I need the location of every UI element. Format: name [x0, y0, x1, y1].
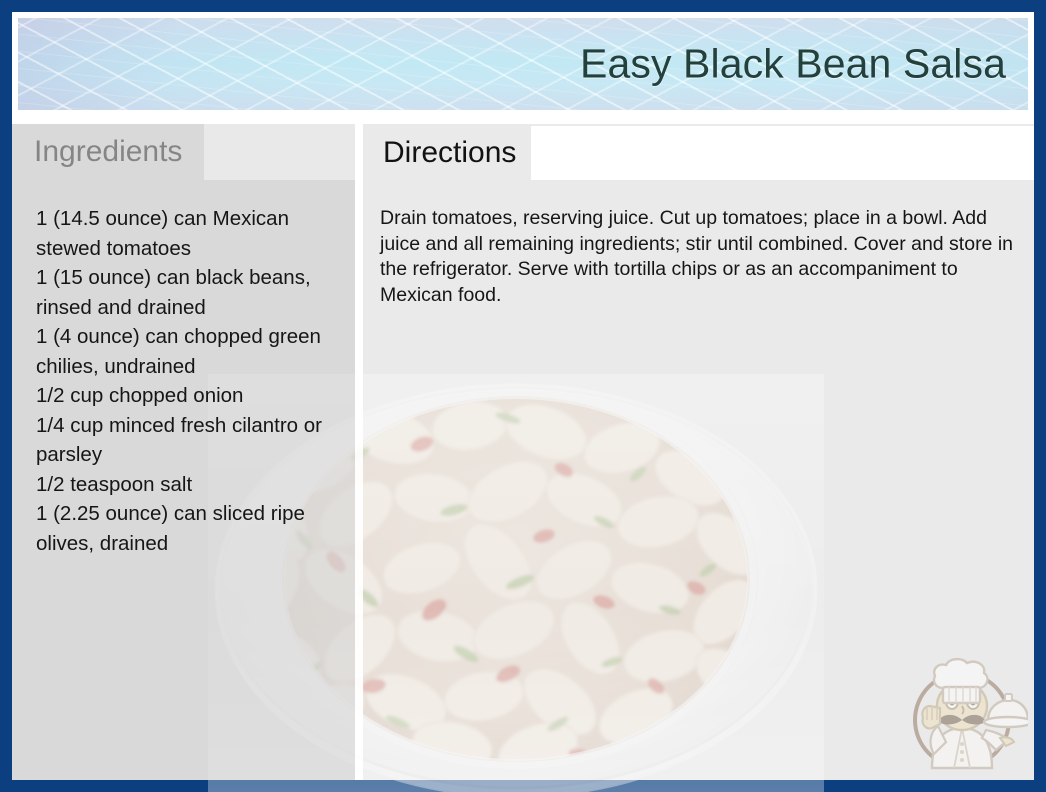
directions-heading-tab: Directions [372, 126, 531, 180]
page-title: Easy Black Bean Salsa [580, 44, 1006, 85]
directions-body-text: Drain tomatoes, reserving juice. Cut up … [380, 206, 1014, 308]
directions-tab-notch [531, 126, 1034, 180]
header-banner: Easy Black Bean Salsa [18, 18, 1028, 110]
recipe-slide: Easy Black Bean Salsa [0, 0, 1046, 792]
ingredient-item: 1/2 cup chopped onion [36, 381, 348, 411]
ingredient-item: 1/4 cup minced fresh cilantro or parsley [36, 411, 348, 470]
ingredient-item: 1/2 teaspoon salt [36, 470, 348, 500]
ingredients-heading-label: Ingredients [34, 135, 182, 169]
ingredient-item: 1 (2.25 ounce) can sliced ripe olives, d… [36, 499, 348, 558]
ingredient-item: 1 (4 ounce) can chopped green chilies, u… [36, 322, 348, 381]
ingredients-list: 1 (14.5 ounce) can Mexican stewed tomato… [36, 204, 348, 558]
ingredients-tab-notch [204, 124, 355, 180]
ingredients-heading-tab: Ingredients [12, 124, 204, 180]
slide-inner-canvas: Easy Black Bean Salsa [12, 12, 1034, 780]
panel-divider [355, 124, 363, 780]
directions-heading-label: Directions [383, 136, 516, 170]
chef-mascot-logo [896, 644, 1028, 778]
ingredient-item: 1 (14.5 ounce) can Mexican stewed tomato… [36, 204, 348, 263]
ingredient-item: 1 (15 ounce) can black beans, rinsed and… [36, 263, 348, 322]
